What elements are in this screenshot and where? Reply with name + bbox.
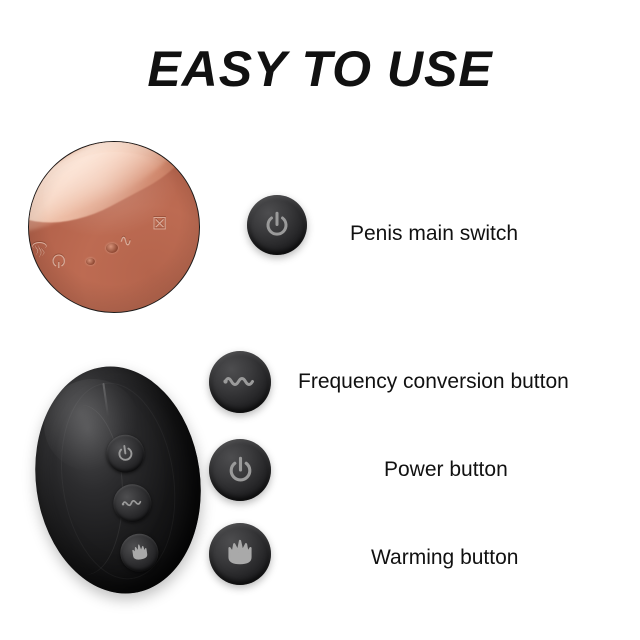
power-icon xyxy=(114,442,137,465)
wave-icon xyxy=(121,495,145,512)
vent-hole xyxy=(106,243,118,253)
page-title: EASY TO USE xyxy=(0,44,640,94)
legend-button-power[interactable] xyxy=(209,439,271,501)
legend-label-warming: Warming button xyxy=(371,547,518,568)
infographic-canvas: EASY TO USE ♨ ⏻ ∿ ☒ xyxy=(0,0,640,640)
legend-label-frequency-conversion: Frequency conversion button xyxy=(298,371,569,392)
power-icon xyxy=(262,210,292,240)
flame-icon xyxy=(127,541,151,565)
legend-button-frequency-conversion[interactable] xyxy=(209,351,271,413)
legend-button-penis-main-switch[interactable] xyxy=(247,195,307,255)
product-closeup-photo xyxy=(28,141,200,313)
legend-button-warming[interactable] xyxy=(209,523,271,585)
remote-control-device xyxy=(21,356,215,605)
charging-port-hole xyxy=(86,258,95,265)
legend-label-power: Power button xyxy=(384,459,508,480)
wave-icon xyxy=(223,373,257,391)
flame-icon xyxy=(223,537,257,571)
power-icon xyxy=(225,455,256,486)
photo-vignette xyxy=(29,142,199,312)
legend-label-penis-main-switch: Penis main switch xyxy=(350,223,518,244)
